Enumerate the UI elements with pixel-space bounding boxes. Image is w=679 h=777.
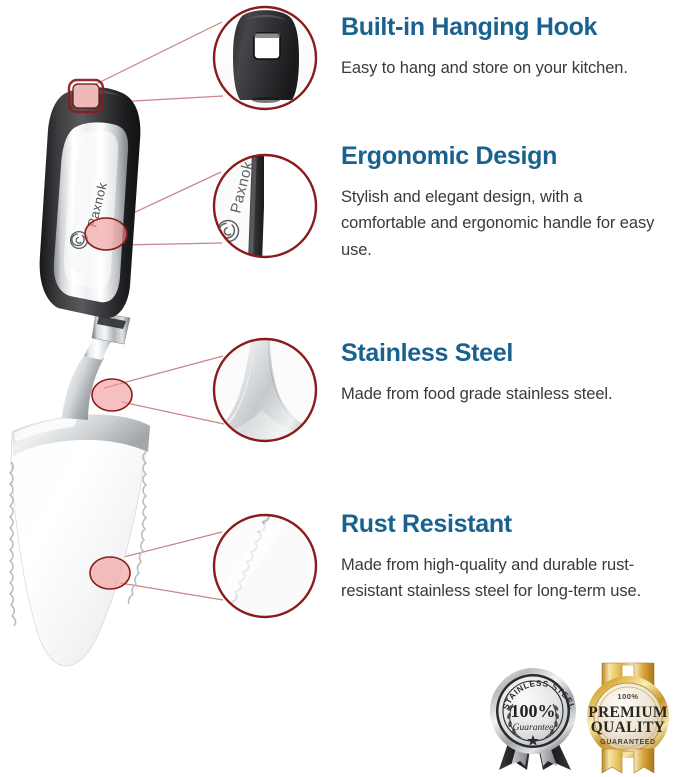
feature-body: Made from high-quality and durable rust-… (341, 552, 671, 605)
callout-hanging-hook (214, 7, 316, 109)
feature-block-hanging-hook: Built-in Hanging Hook Easy to hang and s… (341, 14, 671, 81)
callout-stainless-steel (206, 335, 320, 470)
feature-title: Ergonomic Design (341, 143, 671, 171)
server-blade (11, 415, 150, 666)
badge-percent: 100% (511, 701, 556, 721)
premium-line3: GUARANTEED (600, 739, 655, 746)
feature-body: Stylish and elegant design, with a comfo… (341, 184, 671, 264)
feature-title: Rust Resistant (341, 511, 671, 539)
premium-line2: QUALITY (591, 719, 665, 736)
feature-block-rust-resistant: Rust Resistant Made from high-quality an… (341, 511, 671, 605)
highlight-steel (92, 379, 132, 411)
highlight-rust (90, 557, 130, 589)
feature-block-ergonomic-design: Ergonomic Design Stylish and elegant des… (341, 143, 671, 264)
hanging-hole (73, 84, 99, 108)
feature-body: Easy to hang and store on your kitchen. (341, 55, 671, 82)
feature-title: Stainless Steel (341, 340, 671, 368)
feature-block-stainless-steel: Stainless Steel Made from food grade sta… (341, 340, 671, 407)
feature-title: Built-in Hanging Hook (341, 14, 671, 42)
premium-percent: 100% (617, 692, 638, 701)
highlight-ergonomic (85, 218, 127, 250)
callout-ergonomic-design: Paxnok (214, 152, 318, 262)
premium-quality-badge: 100% PREMIUM QUALITY GUARANTEED (587, 663, 669, 773)
badge-script: Guarantee (513, 723, 554, 733)
stainless-steel-guarantee-badge: STAINLESS STEEL 100% Guarantee (490, 668, 577, 770)
infographic-canvas: Paxnok (0, 0, 679, 777)
feature-body: Made from food grade stainless steel. (341, 381, 671, 408)
